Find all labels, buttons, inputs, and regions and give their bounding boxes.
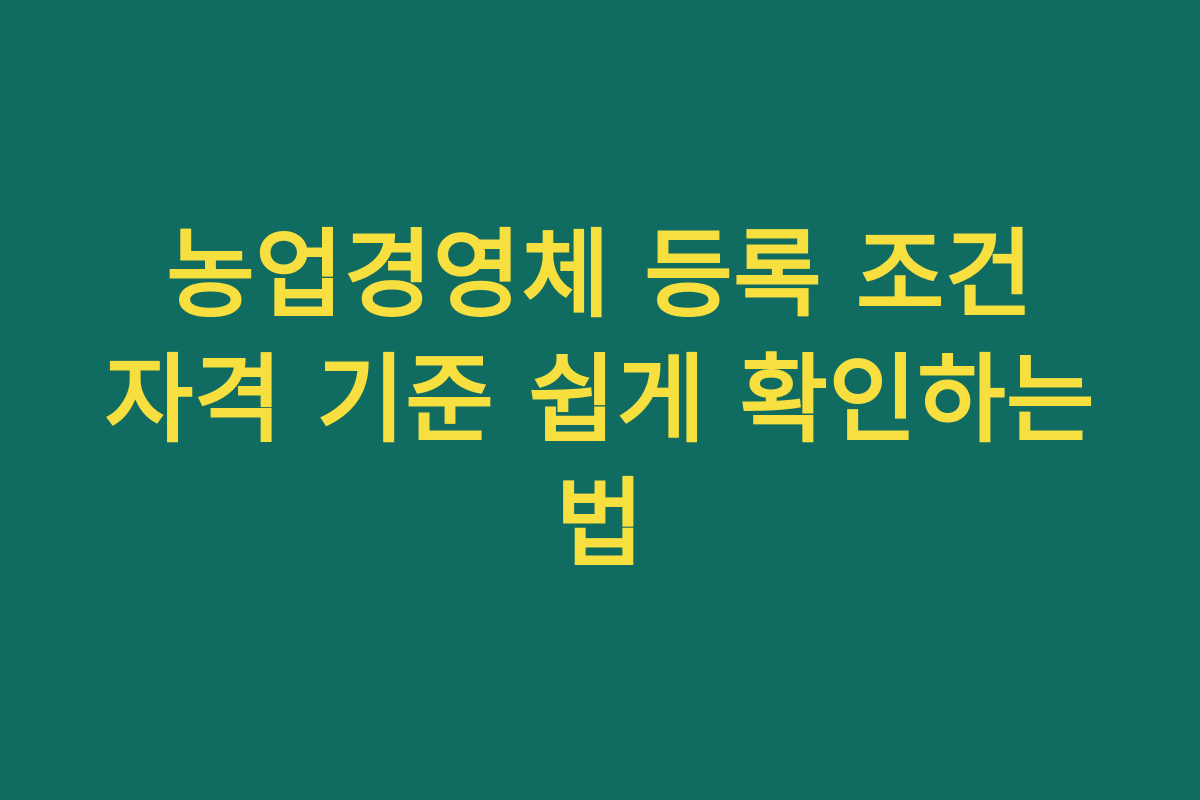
- text-banner-card: 농업경영체 등록 조건 자격 기준 쉽게 확인하는 법: [0, 0, 1200, 800]
- headline-block: 농업경영체 등록 조건 자격 기준 쉽게 확인하는 법: [70, 213, 1130, 587]
- banner-headline: 농업경영체 등록 조건 자격 기준 쉽게 확인하는 법: [80, 213, 1120, 587]
